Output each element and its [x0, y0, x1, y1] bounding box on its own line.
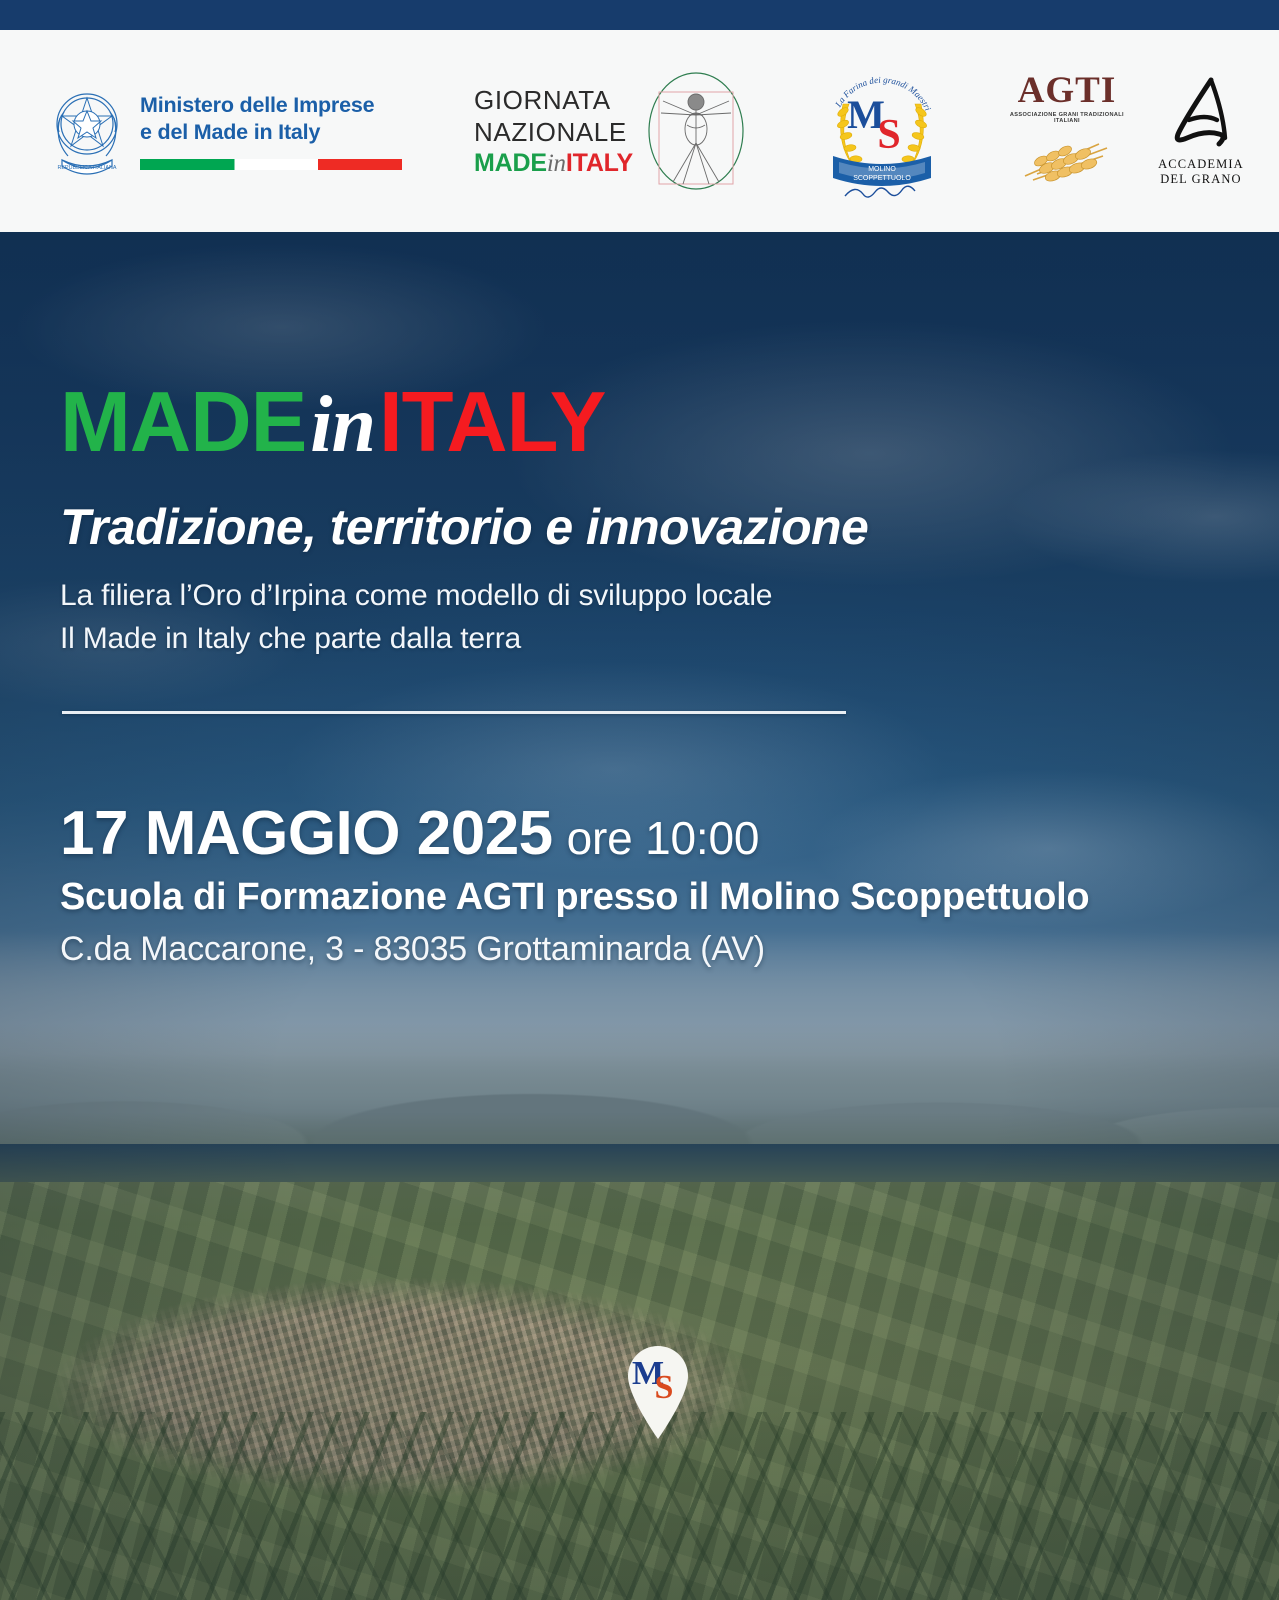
title-in-word: in: [306, 381, 379, 469]
logo-giornata-nazionale: GIORNATA NAZIONALE MADEinITALY: [474, 69, 749, 193]
wheat-ears-icon: [1003, 128, 1131, 186]
giornata-made-in-italy: MADEinITALY: [474, 151, 633, 176]
top-accent-strip: [0, 0, 1279, 30]
event-datetime: 17 MAGGIO 2025ore 10:00: [60, 798, 759, 869]
italian-flag-bar-icon: [140, 159, 402, 170]
event-poster: REPUBBLICA ITALIANA Ministero delle Impr…: [0, 0, 1279, 1600]
giornata-italy-word: ITALY: [566, 149, 633, 177]
molino-monogram-s: S: [877, 112, 900, 158]
giornata-line-2: NAZIONALE: [474, 119, 633, 145]
logo-agti: AGTI ASSOCIAZIONE GRANI TRADIZIONALI ITA…: [1003, 72, 1131, 190]
description-line-1: La filiera l’Oro d’Irpina come modello d…: [60, 574, 772, 617]
agti-subtitle: ASSOCIAZIONE GRANI TRADIZIONALI ITALIANI: [1003, 112, 1131, 124]
giornata-made-word: MADE: [474, 149, 547, 177]
event-time: ore 10:00: [553, 812, 760, 864]
page-title: MADEinITALY: [60, 380, 605, 465]
location-pin-icon: M S: [620, 1340, 696, 1440]
poster-subtitle: Tradizione, territorio e innovazione: [60, 498, 868, 556]
poster-description: La filiera l’Oro d’Irpina come modello d…: [60, 574, 772, 660]
logo-ministero-imprese: REPUBBLICA ITALIANA Ministero delle Impr…: [48, 72, 402, 190]
giornata-in-word: in: [547, 150, 566, 177]
molino-signature-icon: [845, 186, 915, 197]
description-line-2: Il Made in Italy che parte dalla terra: [60, 617, 772, 660]
agti-acronym: AGTI: [1003, 72, 1131, 109]
sponsor-logo-header: REPUBBLICA ITALIANA Ministero delle Impr…: [0, 30, 1279, 232]
map-pin-marker: M S: [620, 1340, 696, 1440]
poster-content: MADEinITALY Tradizione, territorio e inn…: [0, 232, 1279, 1600]
svg-text:REPUBBLICA ITALIANA: REPUBBLICA ITALIANA: [58, 165, 117, 171]
horizontal-divider: [62, 711, 846, 714]
accademia-line-2: DEL GRANO: [1153, 172, 1249, 187]
accademia-line-1: ACCADEMIA: [1153, 157, 1249, 172]
logo-accademia-del-grano: ACCADEMIA DEL GRANO: [1153, 76, 1249, 187]
logo-molino-scoppettuolo: La Farina dei grandi Maestri: [819, 56, 945, 206]
vitruvian-man-icon: [643, 69, 749, 193]
event-venue: Scuola di Formazione AGTI presso il Moli…: [60, 876, 1089, 919]
molino-banner-line-2: SCOPPETTUOLO: [853, 175, 911, 182]
repubblica-italiana-emblem-icon: REPUBBLICA ITALIANA: [48, 72, 126, 190]
giornata-line-1: GIORNATA: [474, 87, 633, 113]
ministero-line-1: Ministero delle Imprese: [140, 92, 402, 119]
molino-scoppettuolo-crest-icon: La Farina dei grandi Maestri: [819, 56, 945, 206]
event-address: C.da Maccarone, 3 - 83035 Grottaminarda …: [60, 930, 765, 969]
event-date: 17 MAGGIO 2025: [60, 799, 553, 868]
stylized-a-icon: [1153, 76, 1249, 152]
title-made-word: MADE: [60, 375, 306, 470]
ministero-line-2: e del Made in Italy: [140, 119, 402, 146]
molino-banner-line-1: MOLINO: [868, 166, 896, 173]
title-italy-word: ITALY: [379, 375, 605, 470]
pin-letter-s: S: [655, 1369, 674, 1406]
